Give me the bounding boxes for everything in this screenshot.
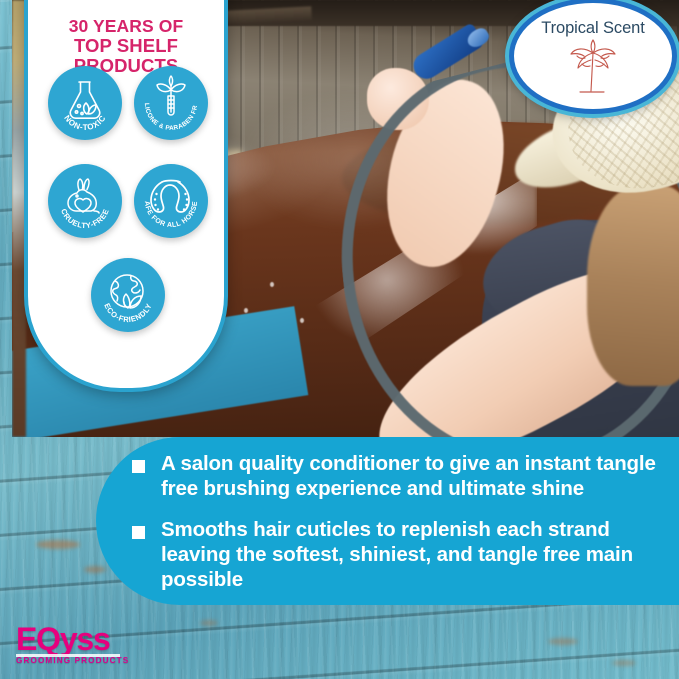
rabbit-heart-icon: CRUELTY-FREE <box>48 164 122 238</box>
bullet-square-icon <box>132 460 145 473</box>
badge-non-toxic: NON-TOXIC <box>48 66 122 140</box>
benefit-item: A salon quality conditioner to give an i… <box>132 451 672 501</box>
rust-spot <box>84 566 106 573</box>
claims-panel: 30 YEARS OF TOP SHELF PRODUCTS NON-TOXIC <box>24 0 228 392</box>
bullet-square-icon <box>132 526 145 539</box>
flask-leaf-icon: NON-TOXIC <box>48 66 122 140</box>
badge-label-silicone-paraben-free: SILICONE & PARABEN FREE <box>134 66 199 132</box>
svg-text:SILICONE & PARABEN FREE: SILICONE & PARABEN FREE <box>134 66 199 132</box>
rust-spot <box>612 660 636 666</box>
benefits-panel: A salon quality conditioner to give an i… <box>96 437 679 605</box>
palm-tree-icon <box>558 39 628 101</box>
girl-hair <box>587 186 679 386</box>
product-feature-image: 30 YEARS OF TOP SHELF PRODUCTS NON-TOXIC <box>0 0 679 679</box>
benefit-text: Smooths hair cuticles to replenish each … <box>161 517 672 592</box>
svg-text:ECO-FRIENDLY: ECO-FRIENDLY <box>102 302 153 324</box>
benefit-text: A salon quality conditioner to give an i… <box>161 451 672 501</box>
leaf-bottle-icon: SILICONE & PARABEN FREE <box>134 66 208 140</box>
rust-spot <box>548 638 578 645</box>
badge-silicone-paraben-free: SILICONE & PARABEN FREE <box>134 66 208 140</box>
badge-eco-friendly: ECO-FRIENDLY <box>91 258 165 332</box>
benefit-item: Smooths hair cuticles to replenish each … <box>132 517 672 592</box>
badge-label-eco-friendly: ECO-FRIENDLY <box>102 302 153 324</box>
badge-safe-for-all-horses: SAFE FOR ALL HORSES <box>134 164 208 238</box>
badge-label-non-toxic: NON-TOXIC <box>62 114 108 132</box>
brand-logo: EQyss GROOMING PRODUCTS <box>16 624 148 668</box>
rust-spot <box>200 620 218 626</box>
headline-line-1: 30 YEARS OF <box>28 16 224 36</box>
horseshoe-icon: SAFE FOR ALL HORSES <box>134 164 208 238</box>
logo-tagline: GROOMING PRODUCTS <box>16 656 148 665</box>
water-droplet <box>270 282 274 287</box>
logo-underline <box>16 654 120 657</box>
scent-label: Tropical Scent <box>514 19 672 38</box>
badge-cruelty-free: CRUELTY-FREE <box>48 164 122 238</box>
tropical-scent-badge: Tropical Scent <box>509 0 677 114</box>
svg-text:NON-TOXIC: NON-TOXIC <box>62 114 108 132</box>
rust-spot <box>36 540 80 549</box>
water-droplet <box>244 308 248 313</box>
logo-wordmark: EQyss <box>16 624 148 654</box>
globe-leaf-icon: ECO-FRIENDLY <box>91 258 165 332</box>
